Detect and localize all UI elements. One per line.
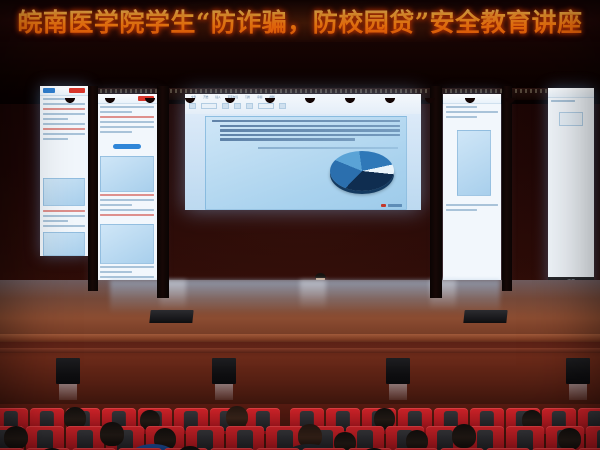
panel-image-card (100, 156, 154, 192)
audience-head (406, 430, 428, 450)
audience-seating (0, 404, 600, 450)
panel-placeholder-card (559, 112, 583, 126)
ribbon-tab[interactable]: 插入 (215, 96, 220, 100)
stage-step-light (386, 358, 410, 384)
stage-pillar-left-inner (157, 86, 169, 298)
pie-chart-disc (330, 151, 394, 191)
panel-chart-card (100, 224, 154, 264)
right-inner-panel (443, 94, 501, 300)
stage-pillar-right-inner (430, 86, 442, 298)
panel-accent-badge (138, 96, 154, 101)
slide-text-block (212, 120, 400, 143)
stage-step-light (212, 358, 236, 384)
align-icon[interactable] (246, 103, 253, 109)
ribbon-toolbar[interactable] (189, 103, 286, 109)
slide-body-line (220, 134, 400, 136)
panel-logo-badge (43, 88, 55, 93)
floor-light-streak (300, 280, 326, 310)
panel-content-rows-lower (43, 210, 85, 230)
seat (26, 426, 64, 450)
ribbon-tab[interactable]: 页面布局 (228, 96, 238, 100)
watermark-emblem-icon (381, 204, 386, 208)
banner-title-text: 皖南医学院学生“防诈骗，防校园贷”安全教育讲座 (17, 3, 582, 39)
stage-monitor-speaker (149, 310, 193, 323)
panel-action-button[interactable] (113, 144, 141, 149)
panel-header-bar (548, 88, 594, 98)
stage-front-wall (0, 342, 600, 404)
panel-content-rows (43, 98, 85, 143)
panel-content-rows (100, 106, 154, 136)
panel-header-bar (443, 94, 501, 104)
ribbon-tab[interactable]: 审阅 (257, 96, 262, 100)
title-banner: 皖南医学院学生“防诈骗，防校园贷”安全教育讲座 (0, 0, 600, 42)
panel-content-rows (551, 100, 591, 105)
panel-content-rows-mid (100, 194, 154, 219)
stage-step-light (56, 358, 80, 384)
font-style-icon[interactable] (189, 103, 196, 109)
right-outer-panel: 17:46 2018/11/27 (548, 88, 594, 288)
ribbon-tab[interactable]: 开始 (203, 96, 208, 100)
slide-watermark (381, 204, 402, 208)
left-outer-panel (40, 86, 88, 256)
slide-heading-line (212, 120, 400, 122)
document-body (185, 114, 421, 210)
seat (506, 426, 544, 450)
panel-header-bar (97, 94, 157, 104)
watermark-text (388, 204, 402, 207)
chart-caption-line (258, 147, 398, 149)
panel-header-bar (40, 86, 88, 96)
slide-body-line (220, 129, 400, 131)
audience-head (100, 422, 124, 446)
stage-monitor-speaker (463, 310, 507, 323)
audience-head (452, 424, 476, 448)
ribbon-tab[interactable]: 引用 (245, 96, 250, 100)
panel-accent-badge (69, 88, 85, 93)
panel-footer-card (43, 232, 85, 256)
slide-body-line (220, 138, 355, 140)
speaker-hair (315, 273, 326, 278)
bold-icon[interactable] (222, 103, 229, 109)
font-name-field[interactable] (201, 103, 217, 109)
panel-content-rows-lower (100, 266, 154, 281)
style-gallery[interactable] (258, 103, 274, 109)
auditorium-hall: 文件 开始 插入 页面布局 引用 审阅 视图 (0, 42, 600, 450)
seat (226, 426, 264, 450)
panel-image-card (43, 178, 85, 206)
stage-step-light (566, 358, 590, 384)
italic-icon[interactable] (234, 103, 241, 109)
paste-icon[interactable] (279, 103, 286, 109)
seat (586, 426, 600, 450)
stage-pillar-left (88, 86, 98, 291)
pie-chart (330, 151, 394, 195)
ribbon-tab[interactable]: 视图 (269, 96, 274, 100)
ribbon-tab-list[interactable]: 文件 开始 插入 页面布局 引用 审阅 视图 (191, 96, 275, 100)
slide-page (205, 116, 407, 210)
seat (66, 426, 104, 450)
ribbon-tab[interactable]: 文件 (191, 96, 196, 100)
audience-head (4, 426, 28, 449)
stage-front-trim (0, 348, 600, 353)
panel-content-rows (446, 106, 498, 121)
stage-pillar-right (502, 86, 512, 291)
panel-image-card (457, 130, 491, 196)
left-inner-panel (97, 94, 157, 302)
lecture-hall-photo: 皖南医学院学生“防诈骗，防校园贷”安全教育讲座 (0, 0, 600, 450)
panel-content-rows-lower (446, 204, 498, 214)
audience-head (558, 428, 581, 450)
editor-ribbon[interactable]: 文件 开始 插入 页面布局 引用 审阅 视图 (185, 94, 421, 115)
center-projection-screen: 文件 开始 插入 页面布局 引用 审阅 视图 (185, 94, 421, 210)
audience-head (226, 406, 248, 428)
slide-body-line (220, 125, 400, 127)
